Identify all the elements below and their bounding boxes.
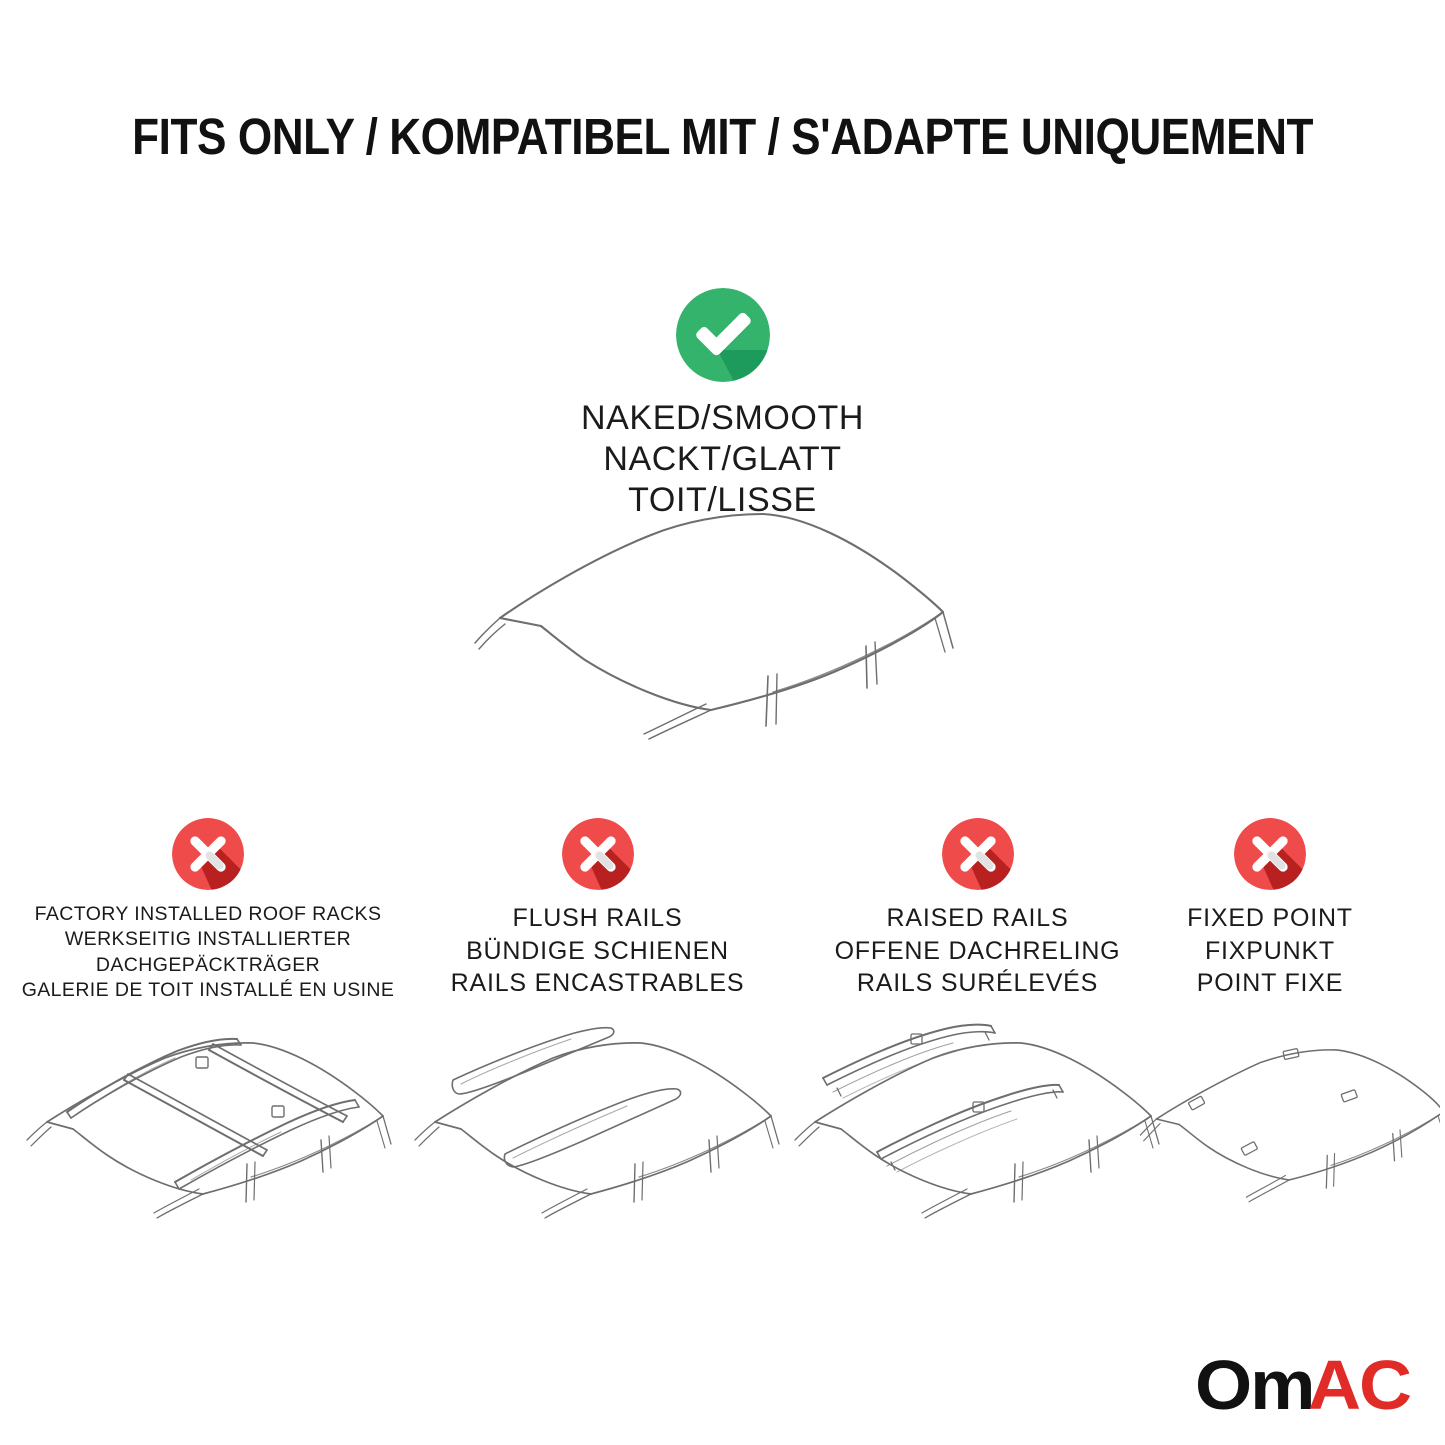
- compatible-label-en: NAKED/SMOOTH: [581, 398, 864, 439]
- incompatible-label-fr: RAILS SURÉLEVÉS: [835, 967, 1121, 1000]
- x-circle-icon: [562, 818, 634, 890]
- incompatible-label-fr: POINT FIXE: [1187, 967, 1353, 1000]
- page-title: FITS ONLY / KOMPATIBEL MIT / S'ADAPTE UN…: [132, 107, 1313, 166]
- incompatible-label-de: FIXPUNKT: [1187, 935, 1353, 968]
- incompatible-label-fr: RAILS ENCASTRABLES: [451, 967, 745, 1000]
- page-header: FITS ONLY / KOMPATIBEL MIT / S'ADAPTE UN…: [0, 96, 1445, 176]
- car-roof-factory-roof-racks-illustration: [10, 1022, 410, 1242]
- car-roof-naked-smooth-illustration: [0, 497, 1445, 742]
- x-circle-icon: [942, 818, 1014, 890]
- car-roof-fixed-point-illustration: [1140, 1022, 1440, 1242]
- incompatible-label-en: FIXED POINT: [1187, 902, 1353, 935]
- incompatible-item-raised-rails: RAISED RAILS OFFENE DACHRELING RAILS SUR…: [790, 818, 1165, 1000]
- logo-text-black: Om: [1195, 1350, 1313, 1420]
- car-roof-raised-rails-illustration: [790, 1022, 1165, 1242]
- incompatible-label-de-2: DACHGEPÄCKTRÄGER: [22, 953, 395, 978]
- check-circle-icon: [676, 288, 770, 382]
- compatible-label-de: NACKT/GLATT: [581, 439, 864, 480]
- incompatible-label-en: FLUSH RAILS: [451, 902, 745, 935]
- incompatible-labels: FLUSH RAILS BÜNDIGE SCHIENEN RAILS ENCAS…: [451, 902, 745, 1000]
- incompatible-label-fr: GALERIE DE TOIT INSTALLÉ EN USINE: [22, 978, 395, 1003]
- x-circle-icon: [172, 818, 244, 890]
- incompatible-labels: RAISED RAILS OFFENE DACHRELING RAILS SUR…: [835, 902, 1121, 1000]
- compatible-section: NAKED/SMOOTH NACKT/GLATT TOIT/LISSE: [0, 288, 1445, 520]
- incompatible-label-de: BÜNDIGE SCHIENEN: [451, 935, 745, 968]
- incompatible-labels: FIXED POINT FIXPUNKT POINT FIXE: [1187, 902, 1353, 1000]
- logo-text-red: AC: [1308, 1350, 1410, 1420]
- omac-logo: Om AC: [1195, 1350, 1405, 1420]
- incompatible-label-en: RAISED RAILS: [835, 902, 1121, 935]
- incompatible-label-de-1: WERKSEITIG INSTALLIERTER: [22, 927, 395, 952]
- incompatible-label-en: FACTORY INSTALLED ROOF RACKS: [22, 902, 395, 927]
- car-roof-flush-rails-illustration: [400, 1022, 795, 1242]
- x-circle-icon: [1234, 818, 1306, 890]
- incompatible-item-factory-roof-racks: FACTORY INSTALLED ROOF RACKS WERKSEITIG …: [8, 818, 408, 1003]
- incompatible-item-flush-rails: FLUSH RAILS BÜNDIGE SCHIENEN RAILS ENCAS…: [405, 818, 790, 1000]
- incompatible-item-fixed-point: FIXED POINT FIXPUNKT POINT FIXE: [1130, 818, 1410, 1000]
- incompatible-labels: FACTORY INSTALLED ROOF RACKS WERKSEITIG …: [22, 902, 395, 1003]
- incompatible-label-de: OFFENE DACHRELING: [835, 935, 1121, 968]
